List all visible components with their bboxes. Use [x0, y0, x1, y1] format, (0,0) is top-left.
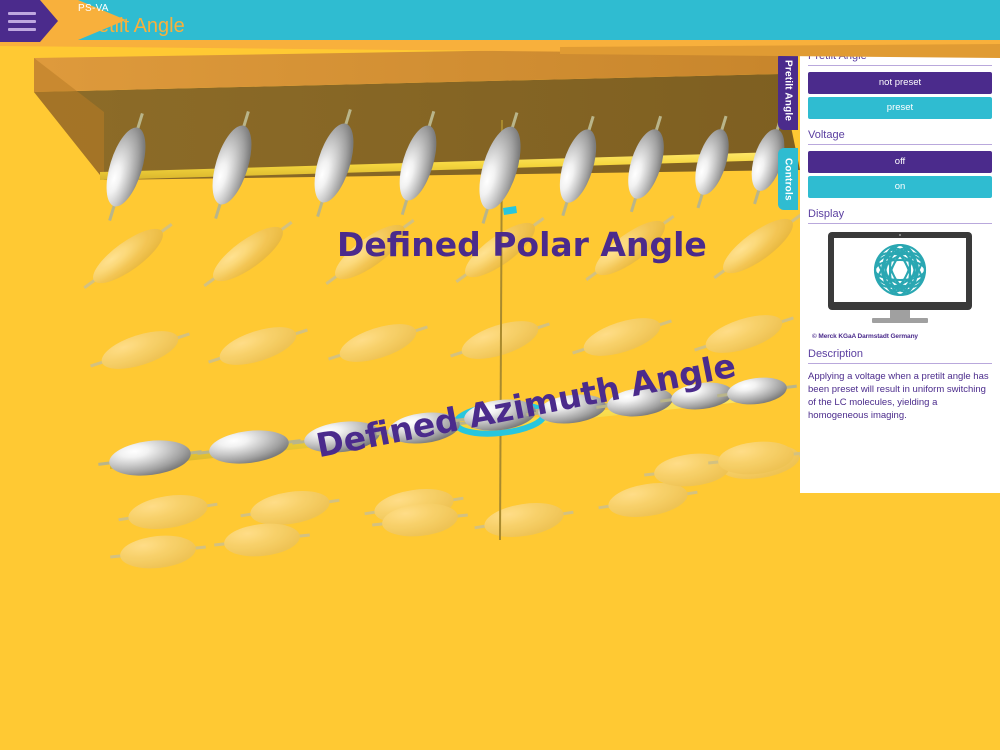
- display-preview: [808, 230, 992, 330]
- description-text: Applying a voltage when a pretilt angle …: [808, 370, 992, 422]
- voltage-option-off[interactable]: off: [808, 151, 992, 173]
- hamburger-menu-button[interactable]: [0, 0, 44, 42]
- monitor-with-teal-sphere-icon: [820, 230, 980, 325]
- controls-panel: Pretilt Angle not preset preset Voltage …: [800, 40, 1000, 493]
- page-title: Pretilt Angle: [78, 14, 185, 38]
- voltage-option-on[interactable]: on: [808, 176, 992, 198]
- section-heading-description: Description: [808, 348, 992, 364]
- hamburger-menu-icon: [8, 12, 36, 36]
- section-heading-display: Display: [808, 208, 992, 224]
- app-header: PS-VA Pretilt Angle: [0, 0, 1000, 42]
- section-heading-voltage: Voltage: [808, 129, 992, 145]
- display-copyright: © Merck KGaA Darmstadt Germany: [812, 333, 992, 340]
- side-tab-pretilt-angle[interactable]: Pretilt Angle: [778, 52, 798, 130]
- header-title-group: PS-VA Pretilt Angle: [78, 3, 185, 38]
- pretilt-option-preset[interactable]: preset: [808, 97, 992, 119]
- side-tab-controls[interactable]: Controls: [778, 148, 798, 210]
- pretilt-option-not-preset[interactable]: not preset: [808, 72, 992, 94]
